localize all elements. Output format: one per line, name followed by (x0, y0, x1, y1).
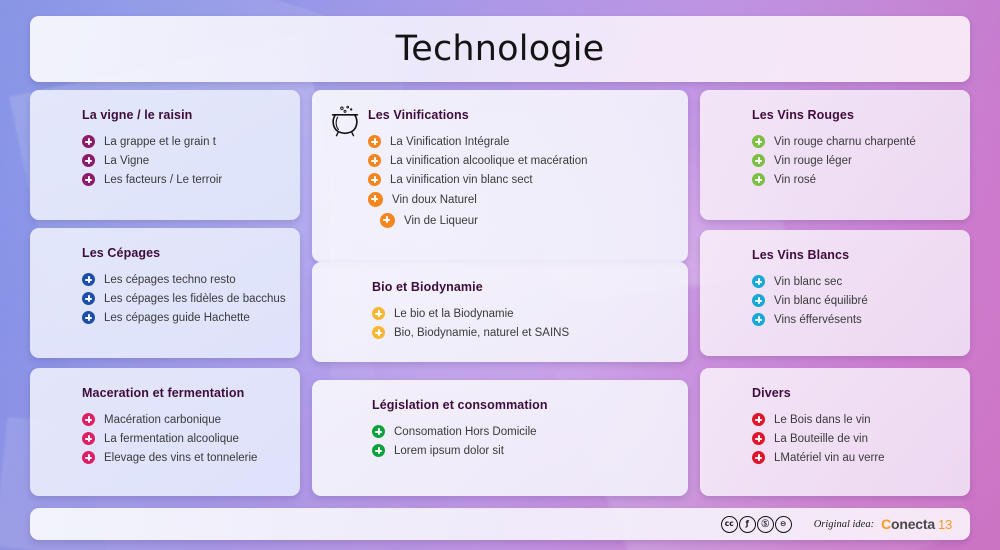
list-item[interactable]: Vin blanc sec (752, 275, 954, 288)
card-title: Bio et Biodynamie (372, 280, 483, 294)
plus-circle-icon (82, 135, 95, 148)
plus-circle-icon (82, 311, 95, 324)
plus-circle-icon (368, 173, 381, 186)
list-item[interactable]: Le Bois dans le vin (752, 413, 954, 426)
list-item-label: Consomation Hors Domicile (394, 426, 537, 438)
list-item[interactable]: La Vigne (82, 154, 284, 167)
list-item[interactable]: Vin rouge charnu charpenté (752, 135, 954, 148)
list-item[interactable]: Bio, Biodynamie, naturel et SAINS (372, 326, 672, 339)
list-item[interactable]: Vin de Liqueur (380, 213, 672, 228)
list-item[interactable]: Consomation Hors Domicile (372, 425, 672, 438)
list-item[interactable]: Vin blanc équilibré (752, 294, 954, 307)
card-divers: DiversLe Bois dans le vinLa Bouteille de… (700, 368, 970, 496)
plus-circle-icon (82, 451, 95, 464)
card-title: La vigne / le raisin (82, 108, 192, 122)
list-item-label: Le Bois dans le vin (774, 414, 871, 426)
creative-commons-icon[interactable]: cc (721, 516, 738, 533)
list-item[interactable]: Macération carbonique (82, 413, 284, 426)
plus-circle-icon (372, 425, 385, 438)
list-item-label: Vin doux Naturel (392, 194, 477, 206)
card-title: Maceration et fermentation (82, 386, 244, 400)
plus-circle-icon (752, 432, 765, 445)
card-item-list: Le Bois dans le vinLa Bouteille de vinLM… (752, 413, 954, 464)
conecta13-logo[interactable]: Conecta 13 (881, 516, 952, 532)
card-title: Divers (752, 386, 791, 400)
list-item[interactable]: Lorem ipsum dolor sit (372, 444, 672, 457)
card-title: Législation et consommation (372, 398, 548, 412)
cc-sa-sharealike-icon[interactable]: Ⓢ (757, 516, 774, 533)
card-vinif: Les VinificationsLa Vinification Intégra… (312, 90, 688, 262)
list-item-label: La vinification vin blanc sect (390, 174, 533, 186)
card-item-list: Consomation Hors DomicileLorem ipsum dol… (372, 425, 672, 457)
plus-circle-icon (752, 294, 765, 307)
card-maceration: Maceration et fermentationMacération car… (30, 368, 300, 496)
card-legis: Législation et consommationConsomation H… (312, 380, 688, 496)
list-item-label: Vin de Liqueur (404, 215, 478, 227)
card-item-list: Macération carboniqueLa fermentation alc… (82, 413, 284, 464)
plus-circle-icon (82, 432, 95, 445)
list-item-label: Le bio et la Biodynamie (394, 308, 514, 320)
list-item[interactable]: La Bouteille de vin (752, 432, 954, 445)
plus-circle-icon (752, 135, 765, 148)
plus-circle-icon (752, 451, 765, 464)
credit-label: Original idea: (814, 519, 874, 530)
cauldron-icon (328, 104, 362, 138)
plus-circle-icon (752, 154, 765, 167)
card-vigne: La vigne / le raisinLa grappe et le grai… (30, 90, 300, 220)
slide-canvas: Technologie La vigne / le raisinLa grapp… (0, 0, 1000, 550)
list-item[interactable]: La vinification vin blanc sect (368, 173, 672, 186)
card-item-list: Vin rouge charnu charpentéVin rouge lége… (752, 135, 954, 186)
plus-circle-icon (752, 173, 765, 186)
card-title: Les Vins Rouges (752, 108, 854, 122)
list-item-label: Vin blanc sec (774, 276, 842, 288)
list-item-label: La Vigne (104, 155, 149, 167)
card-blancs: Les Vins BlancsVin blanc secVin blanc éq… (700, 230, 970, 356)
list-item-label: Vin rouge léger (774, 155, 852, 167)
list-item-label: Les cépages les fidèles de bacchus (104, 293, 286, 305)
plus-circle-icon (368, 154, 381, 167)
list-item-label: La Vinification Intégrale (390, 136, 509, 148)
list-item-label: Les facteurs / Le terroir (104, 174, 222, 186)
plus-circle-icon (752, 275, 765, 288)
card-title: Les Vinifications (368, 108, 469, 122)
list-item[interactable]: La vinification alcoolique et macération (368, 154, 672, 167)
list-item[interactable]: Les facteurs / Le terroir (82, 173, 284, 186)
list-item-label: Les cépages techno resto (104, 274, 236, 286)
plus-circle-icon (82, 413, 95, 426)
list-item[interactable]: La grappe et le grain t (82, 135, 284, 148)
list-item-label: Les cépages guide Hachette (104, 312, 250, 324)
plus-circle-icon (380, 213, 395, 228)
page-title: Technologie (396, 29, 605, 69)
brand-word: onecta (891, 516, 935, 532)
card-cepages: Les CépagesLes cépages techno restoLes c… (30, 228, 300, 358)
cc-nd-noderivs-icon[interactable]: ⊖ (775, 516, 792, 533)
list-item-label: Vins éffervésents (774, 314, 862, 326)
list-item[interactable]: Vin rouge léger (752, 154, 954, 167)
list-item[interactable]: La Vinification Intégrale (368, 135, 672, 148)
list-item-label: Vin rouge charnu charpenté (774, 136, 916, 148)
plus-circle-icon (82, 173, 95, 186)
creative-commons-license-icons: ccƒⓈ⊖ (721, 516, 792, 533)
plus-circle-icon (82, 154, 95, 167)
card-rouges: Les Vins RougesVin rouge charnu charpent… (700, 90, 970, 220)
plus-circle-icon (752, 413, 765, 426)
card-title: Les Cépages (82, 246, 160, 260)
plus-circle-icon (82, 273, 95, 286)
brand-initial: C (881, 516, 891, 532)
list-item-label: Vin blanc équilibré (774, 295, 868, 307)
card-title: Les Vins Blancs (752, 248, 849, 262)
card-item-list: Vin blanc secVin blanc équilibréVins éff… (752, 275, 954, 326)
list-item-label: LMatériel vin au verre (774, 452, 885, 464)
list-item[interactable]: Les cépages guide Hachette (82, 311, 284, 324)
cc-by-attribution-icon[interactable]: ƒ (739, 516, 756, 533)
list-item-label: Bio, Biodynamie, naturel et SAINS (394, 327, 569, 339)
list-item[interactable]: La fermentation alcoolique (82, 432, 284, 445)
list-item[interactable]: Le bio et la Biodynamie (372, 307, 672, 320)
list-item[interactable]: LMatériel vin au verre (752, 451, 954, 464)
list-item[interactable]: Vin rosé (752, 173, 954, 186)
list-item[interactable]: Les cépages techno resto (82, 273, 284, 286)
slide-footer: ccƒⓈ⊖ Original idea: Conecta 13 (30, 508, 970, 540)
plus-circle-icon (82, 292, 95, 305)
list-item[interactable]: Les cépages les fidèles de bacchus (82, 292, 284, 305)
brand-number: 13 (938, 517, 952, 532)
list-item-label: Lorem ipsum dolor sit (394, 445, 504, 457)
plus-circle-icon (372, 307, 385, 320)
list-item-label: La vinification alcoolique et macération (390, 155, 588, 167)
card-item-list: La Vinification IntégraleLa vinification… (368, 135, 672, 228)
plus-circle-icon (372, 326, 385, 339)
list-item-label: Vin rosé (774, 174, 816, 186)
plus-circle-icon (752, 313, 765, 326)
list-item[interactable]: Vins éffervésents (752, 313, 954, 326)
list-item-label: La fermentation alcoolique (104, 433, 239, 445)
plus-circle-icon (368, 192, 383, 207)
plus-circle-icon (372, 444, 385, 457)
list-item[interactable]: Vin doux Naturel (368, 192, 672, 207)
list-item-label: La grappe et le grain t (104, 136, 216, 148)
card-bio: Bio et BiodynamieLe bio et la Biodynamie… (312, 262, 688, 362)
list-item-label: La Bouteille de vin (774, 433, 868, 445)
slide-header: Technologie (30, 16, 970, 82)
card-item-list: Le bio et la BiodynamieBio, Biodynamie, … (372, 307, 672, 339)
list-item-label: Elevage des vins et tonnelerie (104, 452, 257, 464)
plus-circle-icon (368, 135, 381, 148)
list-item[interactable]: Elevage des vins et tonnelerie (82, 451, 284, 464)
list-item-label: Macération carbonique (104, 414, 221, 426)
card-item-list: La grappe et le grain tLa VigneLes facte… (82, 135, 284, 186)
card-item-list: Les cépages techno restoLes cépages les … (82, 273, 284, 324)
